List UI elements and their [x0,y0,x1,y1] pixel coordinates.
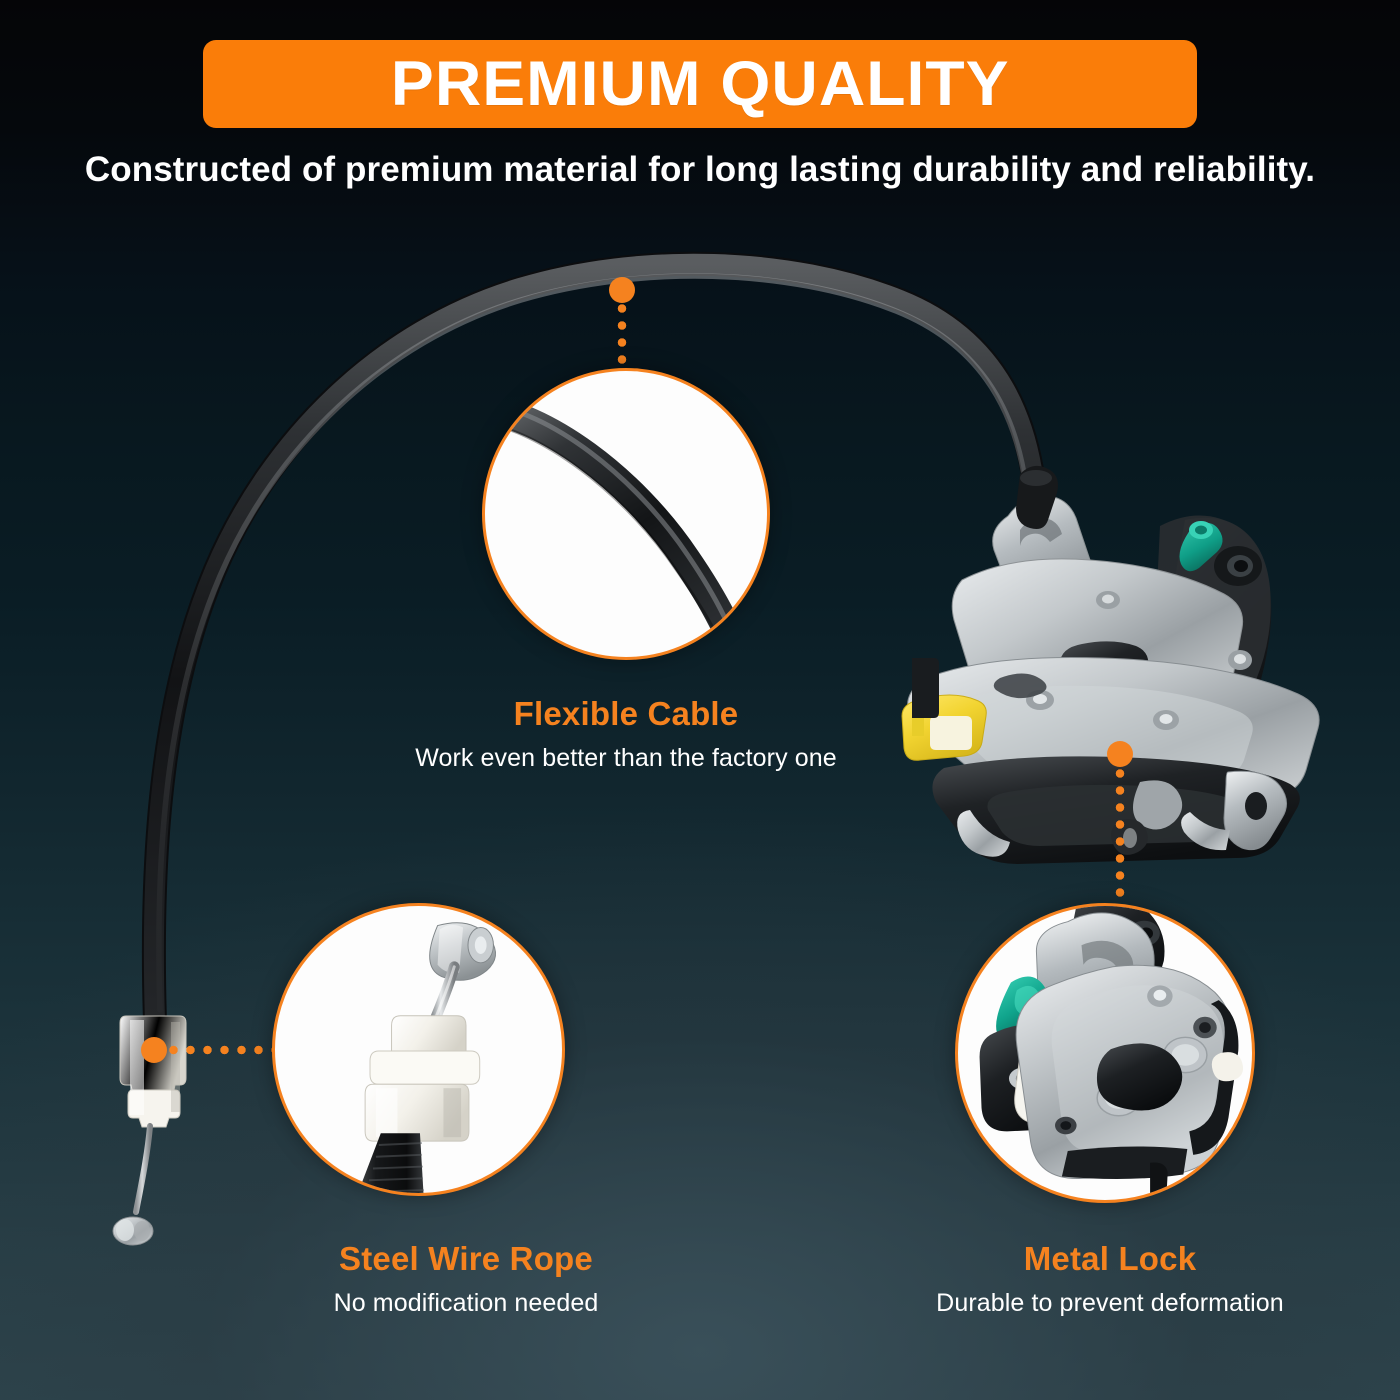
callout-leader-metal-lock [1115,765,1125,907]
caption-desc-flexible-cable: Work even better than the factory one [326,743,926,773]
infographic-canvas: PREMIUM QUALITY Constructed of premium m… [0,0,1400,1400]
door-lock-assembly [902,466,1319,864]
caption-title-metal-lock: Metal Lock [765,1240,1400,1278]
steel-wire-rope [136,1126,150,1212]
white-plastic-cable-end-fitting [120,1016,186,1127]
magnifier-metal-lock-content [958,906,1252,1200]
caption-metal-lock: Metal Lock Durable to prevent deformatio… [765,1240,1400,1318]
callout-dot-metal-lock[interactable] [1107,741,1133,767]
magnifier-steel-wire-rope[interactable] [272,903,565,1196]
magnifier-flexible-cable-content [485,371,767,657]
zoom-white-plastic-fitting [365,1016,480,1141]
caption-title-steel-wire-rope: Steel Wire Rope [126,1240,806,1278]
magnifier-flexible-cable[interactable] [482,368,770,660]
subtitle-text: Constructed of premium material for long… [0,150,1400,190]
zoom-metal-barrel-end [430,923,496,981]
premium-quality-banner: PREMIUM QUALITY [203,40,1197,128]
magnifier-steel-wire-rope-content [275,906,562,1193]
caption-flexible-cable: Flexible Cable Work even better than the… [326,695,926,773]
caption-title-flexible-cable: Flexible Cable [326,695,926,733]
teal-grommet-lever [1180,521,1223,571]
callout-leader-flexible-cable [617,300,627,370]
caption-desc-metal-lock: Durable to prevent deformation [765,1288,1400,1318]
banner-title: PREMIUM QUALITY [391,53,1010,116]
magnifier-metal-lock[interactable] [955,903,1255,1203]
callout-leader-steel-wire-rope [165,1045,277,1055]
caption-steel-wire-rope: Steel Wire Rope No modification needed [126,1240,806,1318]
zoom-black-outer-cable [355,1133,424,1193]
caption-desc-steel-wire-rope: No modification needed [126,1288,806,1318]
callout-dot-steel-wire-rope[interactable] [141,1037,167,1063]
